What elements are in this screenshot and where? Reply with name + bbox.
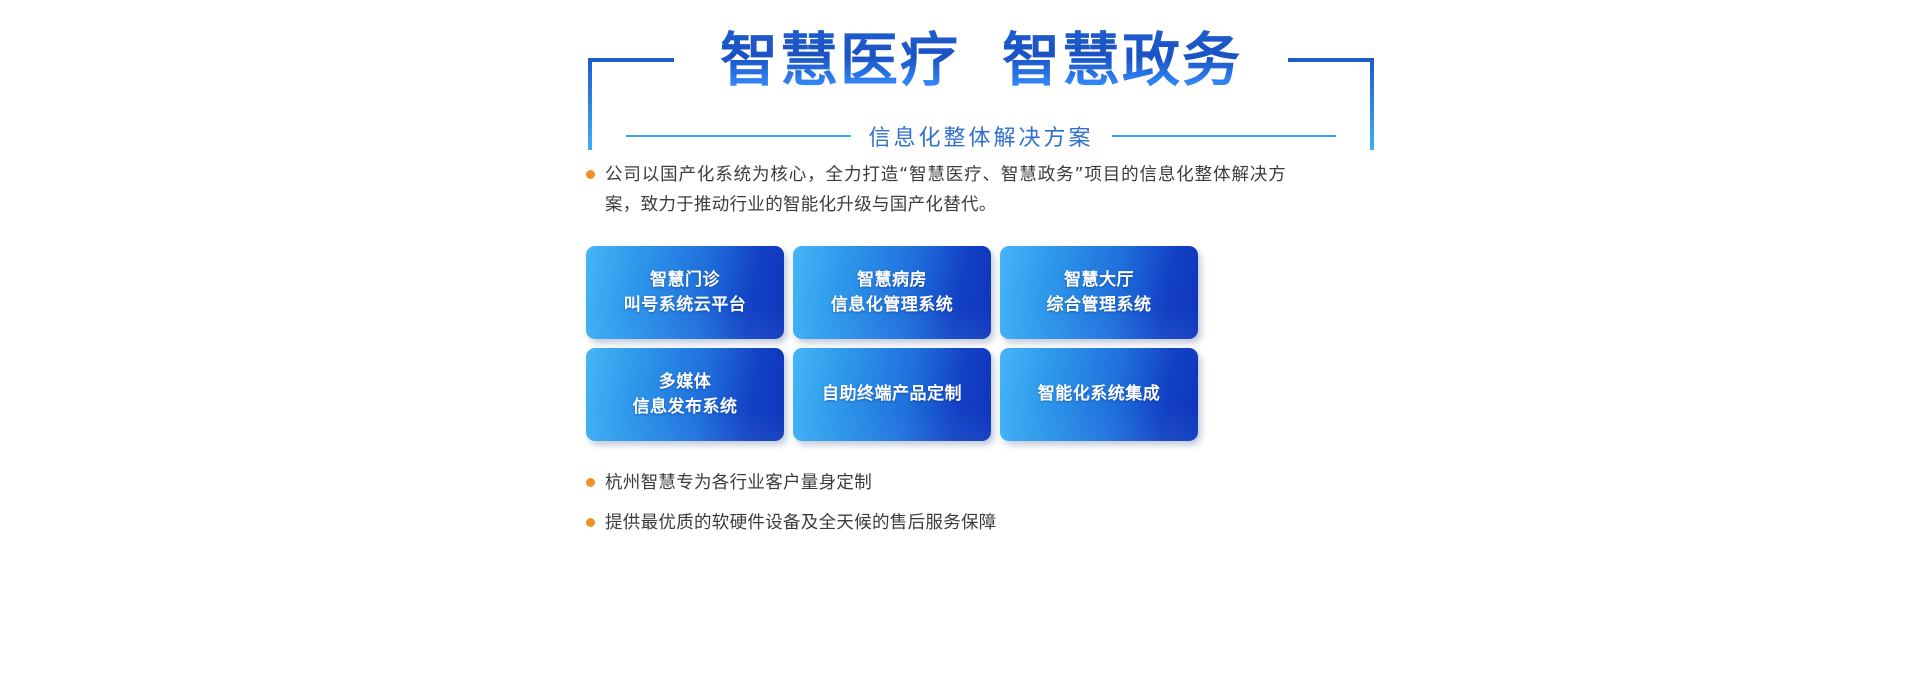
page-title: 智慧医疗智慧政务: [636, 24, 1326, 96]
title-part-2: 智慧政务: [1002, 26, 1242, 94]
card-multimedia[interactable]: 多媒体 信息发布系统: [586, 348, 784, 441]
card-smart-ward[interactable]: 智慧病房 信息化管理系统: [793, 246, 991, 339]
bullet-dot-icon: [586, 478, 595, 487]
card-line-1: 多媒体: [633, 370, 738, 395]
card-line-1: 智能化系统集成: [1038, 382, 1161, 407]
card-label: 智慧门诊 叫号系统云平台: [618, 268, 753, 318]
card-line-1: 智慧大厅: [1047, 268, 1152, 293]
subtitle-rule-right: [1112, 135, 1337, 137]
card-label: 自助终端产品定制: [816, 382, 968, 407]
lead-paragraph-text: 公司以国产化系统为核心，全力打造“智慧医疗、智慧政务”项目的信息化整体解决方案，…: [605, 160, 1286, 220]
title-part-1: 智慧医疗: [720, 26, 960, 94]
card-intelligent-integration[interactable]: 智能化系统集成: [1000, 348, 1198, 441]
card-line-2: 信息发布系统: [633, 395, 738, 420]
page-root: 智慧医疗智慧政务 信息化整体解决方案 公司以国产化系统为核心，全力打造“智慧医疗…: [0, 0, 1920, 680]
bullet-dot-icon: [586, 518, 595, 527]
subtitle-rule-left: [626, 135, 851, 137]
subtitle-row: 信息化整体解决方案: [626, 120, 1336, 152]
list-item: 杭州智慧专为各行业客户量身定制: [586, 470, 1306, 496]
card-line-1: 智慧病房: [831, 268, 954, 293]
card-line-2: 叫号系统云平台: [624, 293, 747, 318]
card-line-2: 综合管理系统: [1047, 293, 1152, 318]
page-subtitle: 信息化整体解决方案: [865, 120, 1098, 152]
title-block: 智慧医疗智慧政务 信息化整体解决方案: [586, 24, 1376, 144]
card-label: 智慧病房 信息化管理系统: [825, 268, 960, 318]
card-label: 智能化系统集成: [1032, 382, 1167, 407]
bullet-text: 提供最优质的软硬件设备及全天候的售后服务保障: [605, 510, 997, 536]
bullet-dot-icon: [586, 170, 595, 179]
card-smart-outpatient[interactable]: 智慧门诊 叫号系统云平台: [586, 246, 784, 339]
card-label: 智慧大厅 综合管理系统: [1041, 268, 1158, 318]
feature-bullet-list: 杭州智慧专为各行业客户量身定制 提供最优质的软硬件设备及全天候的售后服务保障: [586, 470, 1306, 550]
card-smart-hall[interactable]: 智慧大厅 综合管理系统: [1000, 246, 1198, 339]
card-line-2: 信息化管理系统: [831, 293, 954, 318]
card-self-service-terminal[interactable]: 自助终端产品定制: [793, 348, 991, 441]
solution-card-grid: 智慧门诊 叫号系统云平台 智慧病房 信息化管理系统 智慧大厅 综合管理系统 多媒…: [586, 246, 1198, 441]
list-item: 提供最优质的软硬件设备及全天候的售后服务保障: [586, 510, 1306, 536]
card-line-1: 智慧门诊: [624, 268, 747, 293]
card-label: 多媒体 信息发布系统: [627, 370, 744, 420]
lead-paragraph: 公司以国产化系统为核心，全力打造“智慧医疗、智慧政务”项目的信息化整体解决方案，…: [586, 160, 1286, 220]
card-line-1: 自助终端产品定制: [822, 382, 962, 407]
bullet-text: 杭州智慧专为各行业客户量身定制: [605, 470, 872, 496]
